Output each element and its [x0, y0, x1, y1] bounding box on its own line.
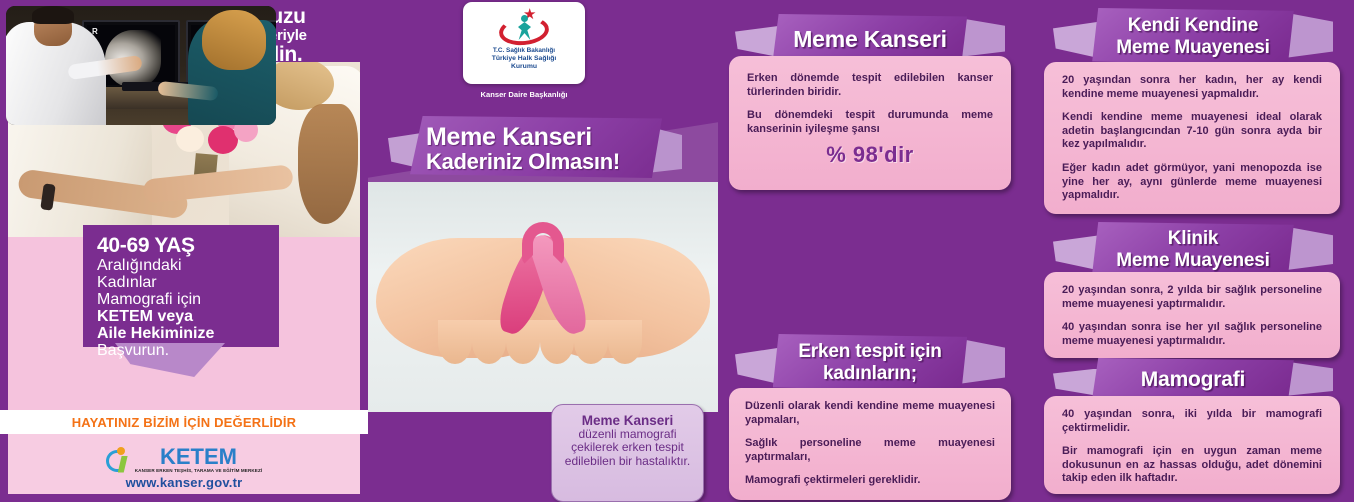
- ministry-emblem-icon: ★: [497, 7, 551, 47]
- card-paragraph: Erken dönemde tespit edilebilen kanser t…: [747, 72, 993, 99]
- figure-body: [518, 22, 531, 40]
- card-body-kendi-kendine: 20 yaşından sonra her kadın, her ay kend…: [1044, 62, 1340, 214]
- ministry-logo-card: ★ T.C. Sağlık Bakanlığı Türkiye Halk Sağ…: [463, 2, 585, 84]
- flower-icon: [176, 126, 204, 152]
- age-callout-line6: Aile Hekiminize: [97, 325, 273, 342]
- doctor-hair: [32, 6, 74, 24]
- card-paragraph: Mamografi çektirmeleri gereklidir.: [745, 474, 995, 488]
- ketem-logo-block: KETEM KANSER ERKEN TEŞHİS, TARAMA VE EĞİ…: [8, 440, 360, 496]
- left-slogan-text: HAYATINIZ BİZİM İÇİN DEĞERLİDİR: [72, 415, 297, 430]
- hands-ribbon-photo: [368, 182, 718, 412]
- age-callout-line1: 40-69 YAŞ: [97, 235, 273, 257]
- age-callout-text: 40-69 YAŞ Aralığındaki Kadınlar Mamograf…: [97, 235, 273, 359]
- card-header-klinik: Klinik Meme Muayenesi: [1053, 222, 1333, 278]
- poster-root: Mamografi Randevunuzu Gecikmeden Alın, M…: [0, 0, 1354, 502]
- age-callout-line2: Aralığındaki: [97, 257, 273, 274]
- card-paragraph: Eğer kadın adet görmüyor, yani menopozda…: [1062, 162, 1322, 203]
- card-paragraph: 20 yaşından sonra her kadın, her ay kend…: [1062, 74, 1322, 101]
- ribbon-loop: [522, 222, 564, 266]
- card-paragraph: Kendi kendine meme muayenesi ideal olara…: [1062, 111, 1322, 152]
- head-shape: [117, 447, 125, 455]
- card-body-meme-kanseri: Erken dönemde tespit edilebilen kanser t…: [729, 56, 1011, 190]
- age-callout-line4: Mamografi için: [97, 291, 273, 308]
- left-slogan-bar: HAYATINIZ BİZİM İÇİN DEĞERLİDİR: [0, 410, 368, 434]
- card-paragraph: 40 yaşından sonra, iki yılda bir mamogra…: [1062, 408, 1322, 435]
- ketem-person-icon: [106, 447, 132, 473]
- department-label: Kanser Daire Başkanlığı: [463, 90, 585, 99]
- ketem-logo: KETEM KANSER ERKEN TEŞHİS, TARAMA VE EĞİ…: [106, 446, 263, 473]
- card-body-mamografi: 40 yaşından sonra, iki yılda bir mamogra…: [1044, 396, 1340, 494]
- card-body-erken-tespit: Düzenli olarak kendi kendine meme muayen…: [729, 388, 1011, 500]
- center-note-title: Meme Kanseri: [562, 413, 693, 428]
- card-title-line: Erken tespit için: [798, 341, 941, 363]
- banner-text: Meme Kanseri Kaderiniz Olmasın!: [426, 124, 656, 174]
- card-paragraph: Bu dönemdeki tespit durumunda meme kanse…: [747, 109, 993, 136]
- card-title-line: Meme Muayenesi: [1116, 37, 1270, 59]
- card-paragraph: Düzenli olarak kendi kendine meme muayen…: [745, 400, 995, 427]
- age-callout-ribbon: 40-69 YAŞ Aralığındaki Kadınlar Mamograf…: [83, 225, 279, 355]
- age-callout-line7: Başvurun.: [97, 342, 273, 359]
- ketem-wordmark: KETEM: [160, 446, 237, 468]
- card-header-erken-tespit: Erken tespit için kadınların;: [735, 334, 1005, 392]
- ministry-logo-line2: Türkiye Halk Sağlığı Kurumu: [492, 55, 557, 71]
- patient-hair: [202, 10, 266, 70]
- card-title-erken-tespit: Erken tespit için kadınların;: [735, 334, 1005, 392]
- pink-ribbon-icon: [508, 222, 578, 334]
- card-paragraph: 40 yaşından sonra ise her yıl sağlık per…: [1062, 321, 1322, 348]
- card-title-kendi-kendine: Kendi Kendine Meme Muayenesi: [1053, 8, 1333, 66]
- card-title-line: kadınların;: [823, 363, 917, 385]
- center-banner: Meme Kanseri Kaderiniz Olmasın!: [388, 116, 688, 184]
- ketem-subtitle: KANSER ERKEN TEŞHİS, TARAMA VE EĞİTİM ME…: [135, 468, 263, 473]
- age-callout-line3: Kadınlar: [97, 274, 273, 291]
- card-paragraph: Bir mamografi için en uygun zaman meme d…: [1062, 445, 1322, 486]
- card-title-line: Klinik: [1168, 228, 1219, 250]
- banner-line2: Kaderiniz Olmasın!: [426, 150, 656, 174]
- mammogram-photo: R L: [6, 6, 276, 125]
- card-title-line: Meme Kanseri: [793, 28, 947, 50]
- card-title-line: Meme Muayenesi: [1116, 250, 1270, 272]
- card-title-klinik: Klinik Meme Muayenesi: [1053, 222, 1333, 278]
- card-title-line: Kendi Kendine: [1128, 15, 1258, 37]
- card-header-kendi-kendine: Kendi Kendine Meme Muayenesi: [1053, 8, 1333, 66]
- figure-head: [521, 15, 528, 22]
- finger: [438, 320, 472, 364]
- ketem-url[interactable]: www.kanser.gov.tr: [126, 475, 243, 490]
- human-figure-icon: [517, 15, 531, 41]
- card-body-klinik: 20 yaşından sonra, 2 yılda bir sağlık pe…: [1044, 272, 1340, 358]
- center-note-body: düzenli mamografi çekilerek erken tespit…: [562, 428, 693, 468]
- card-title-line: Mamografi: [1141, 369, 1245, 391]
- center-note-card: Meme Kanseri düzenli mamografi çekilerek…: [551, 404, 704, 502]
- card-paragraph: Sağlık personeline meme muayenesi yaptır…: [745, 437, 995, 464]
- banner-line1: Meme Kanseri: [426, 124, 656, 150]
- age-callout-line5: KETEM veya: [97, 308, 273, 325]
- mammogram-photo-card: R L: [0, 0, 282, 131]
- finger: [608, 320, 642, 364]
- card-paragraph: 20 yaşından sonra, 2 yılda bir sağlık pe…: [1062, 284, 1322, 311]
- ministry-logo-line1: T.C. Sağlık Bakanlığı: [493, 47, 555, 55]
- highlight-percentage: % 98'dir: [747, 142, 993, 168]
